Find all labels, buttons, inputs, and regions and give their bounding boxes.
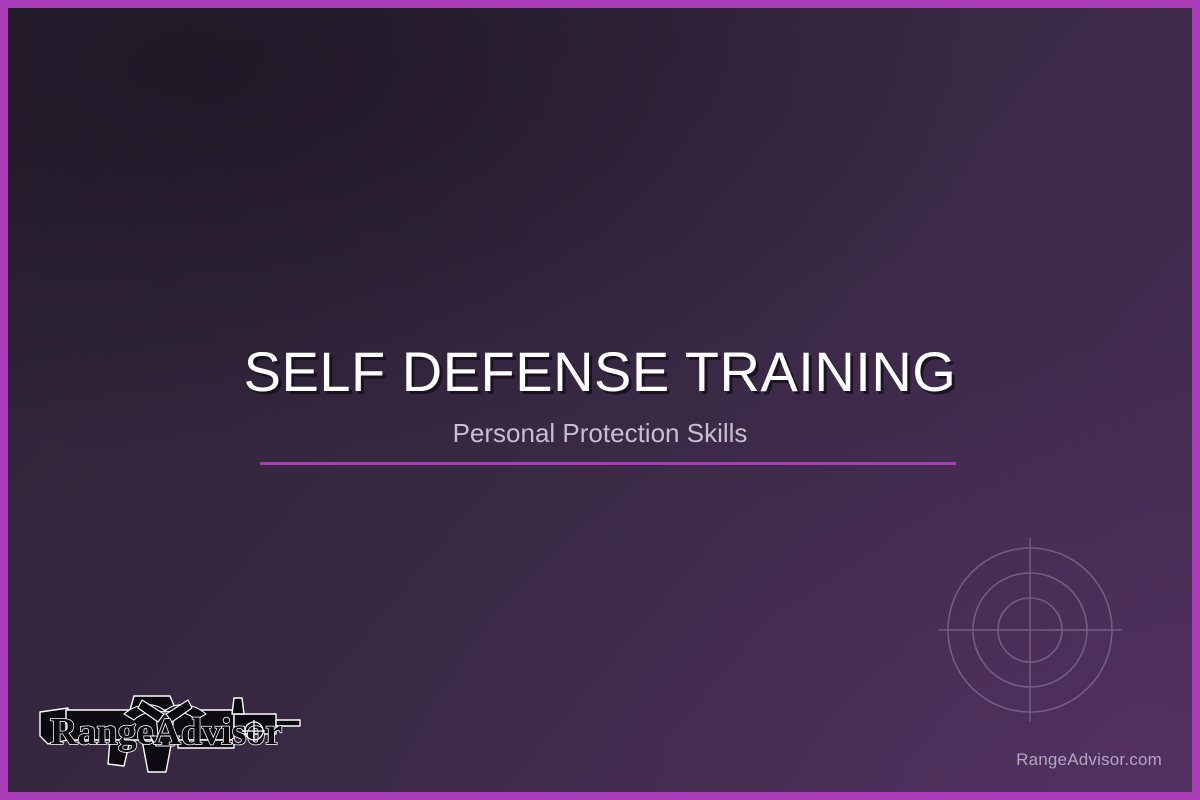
crosshair-target-icon	[938, 538, 1122, 722]
slide-title: SELF DEFENSE TRAINING	[8, 342, 1192, 402]
rifle-logo-icon: RangeAdvisor	[38, 684, 310, 776]
footer-url: RangeAdvisor.com	[1016, 750, 1162, 770]
slide-subtitle: Personal Protection Skills	[8, 418, 1192, 449]
presentation-slide: SELF DEFENSE TRAINING Personal Protectio…	[0, 0, 1200, 800]
brand-wordmark: RangeAdvisor	[50, 711, 282, 753]
title-divider-rule	[260, 462, 956, 465]
title-block: SELF DEFENSE TRAINING Personal Protectio…	[8, 342, 1192, 450]
